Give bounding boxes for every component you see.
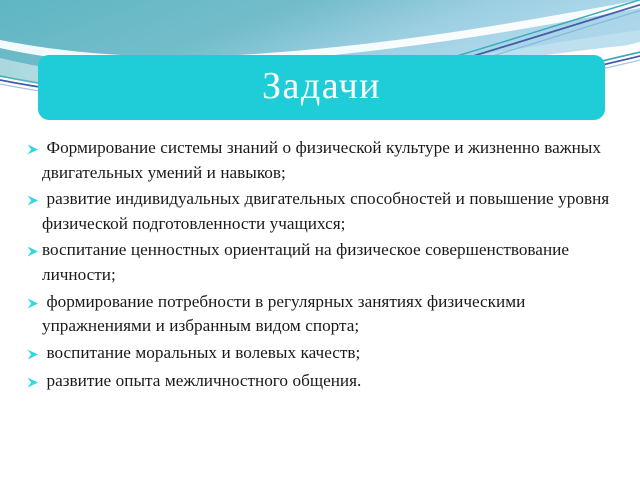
list-item-label: развитие опыта межличностного общения.	[42, 369, 625, 394]
list-item: развитие опыта межличностного общения.	[25, 369, 625, 395]
list-item: воспитание моральных и волевых качеств;	[25, 341, 625, 367]
slide-title-box: Задачи	[38, 55, 605, 120]
list-item-label: воспитание моральных и волевых качеств;	[42, 341, 625, 366]
presentation-slide: Задачи Формирование системы знаний о физ…	[0, 0, 640, 480]
list-item-label: формирование потребности в регулярных за…	[42, 290, 625, 339]
list-item: Формирование системы знаний о физической…	[25, 136, 625, 185]
page-title: Задачи	[262, 67, 381, 108]
arrow-bullet-icon	[25, 137, 42, 162]
objectives-list: Формирование системы знаний о физической…	[25, 136, 625, 397]
list-item-label: воспитание ценностных ориентаций на физи…	[42, 238, 625, 287]
list-item: воспитание ценностных ориентаций на физи…	[25, 238, 625, 287]
arrow-bullet-icon	[25, 370, 42, 395]
arrow-bullet-icon	[25, 239, 42, 264]
arrow-bullet-icon	[25, 291, 42, 316]
list-item: развитие индивидуальных двигательных спо…	[25, 187, 625, 236]
list-item-label: развитие индивидуальных двигательных спо…	[42, 187, 625, 236]
arrow-bullet-icon	[25, 342, 42, 367]
list-item: формирование потребности в регулярных за…	[25, 290, 625, 339]
arrow-bullet-icon	[25, 188, 42, 213]
list-item-label: Формирование системы знаний о физической…	[42, 136, 625, 185]
